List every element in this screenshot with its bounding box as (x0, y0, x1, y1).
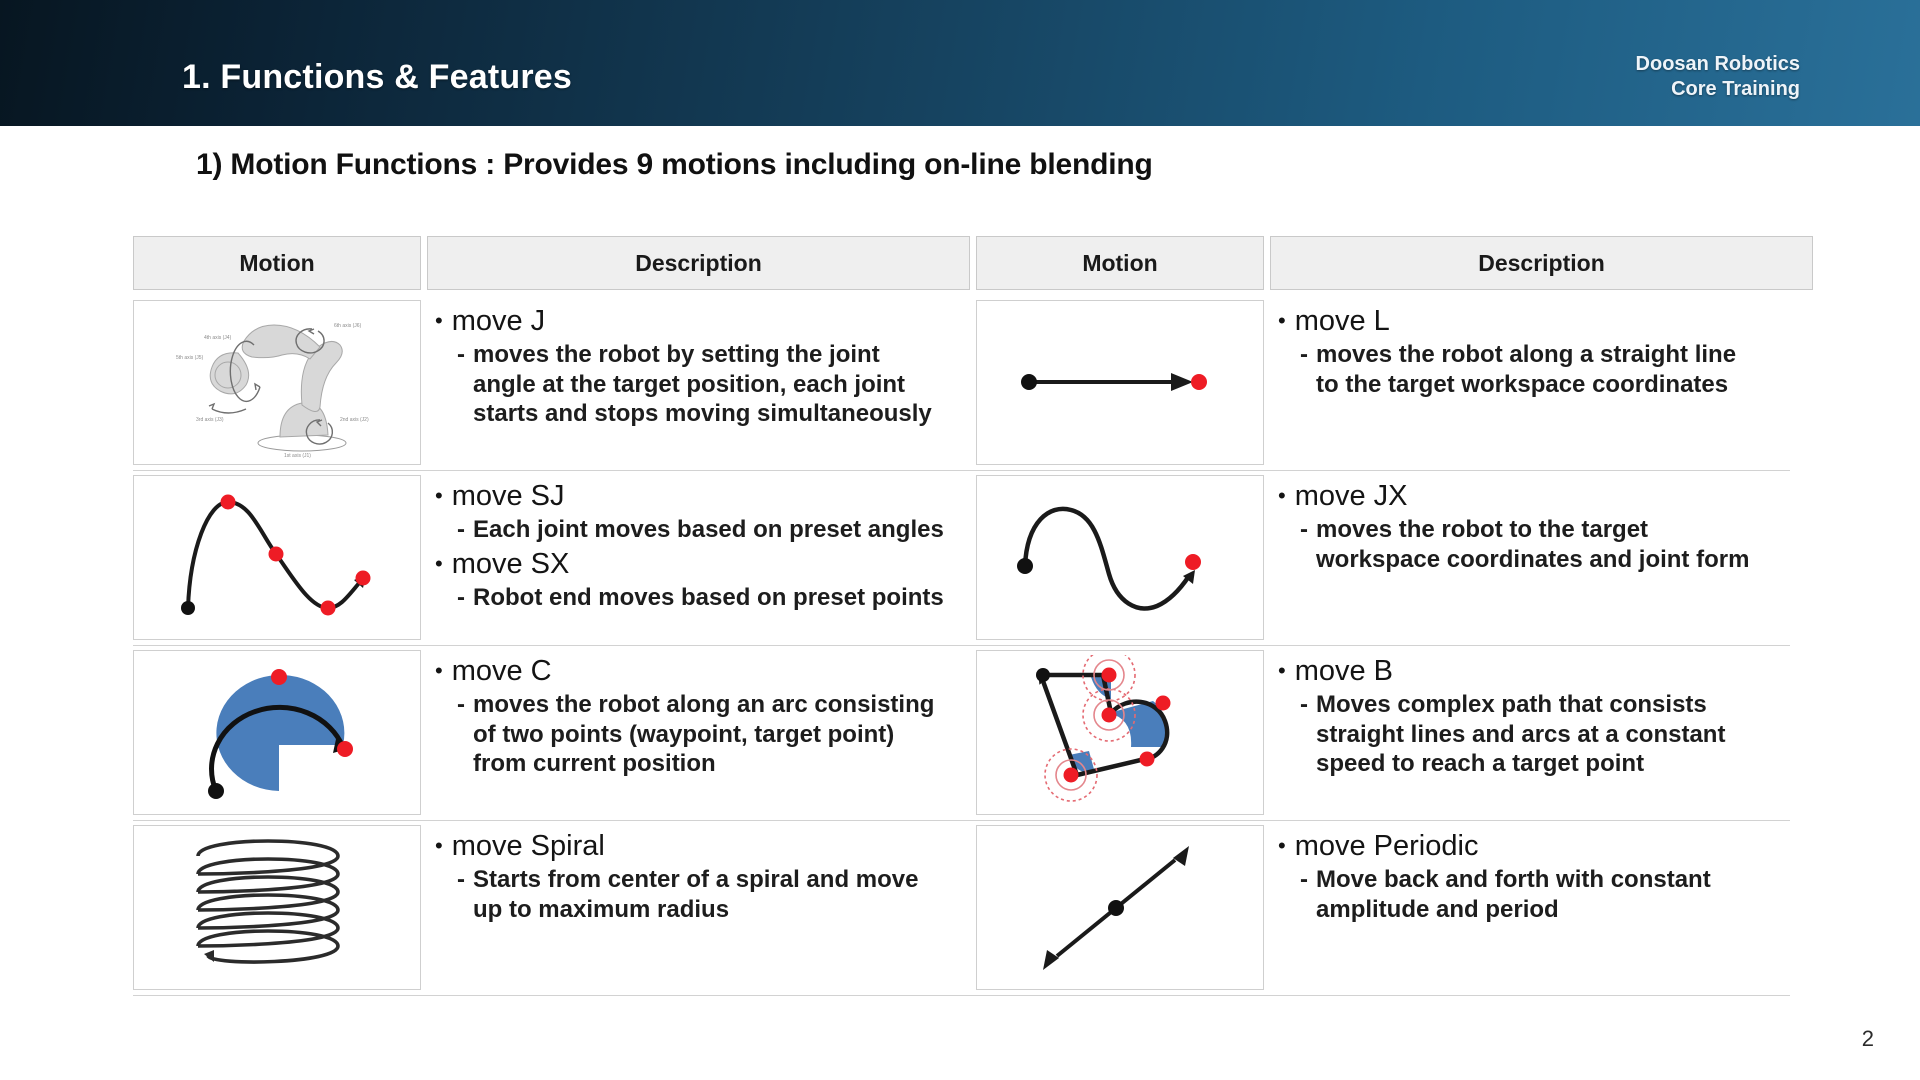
motion-title: move Spiral (452, 831, 605, 862)
motion-detail: moves the robot by setting the joint ang… (473, 340, 932, 428)
motion-detail: moves the robot along an arc consisting … (473, 690, 934, 778)
bullet-dot-icon: • (435, 549, 443, 579)
table-header-row: Motion Description Motion Description (133, 236, 1790, 290)
column-header-description-left: Description (427, 236, 970, 290)
description-cell: • move B - Moves complex path that consi… (1270, 650, 1813, 815)
svg-text:3rd axis (J3): 3rd axis (J3) (196, 417, 224, 423)
motion-item-title-row: • move Spiral (435, 831, 968, 862)
motion-diagram-cell (976, 475, 1264, 640)
motion-detail-row: - Each joint moves based on preset angle… (457, 515, 968, 544)
motion-table: Motion Description Motion Description (133, 236, 1790, 990)
dash-icon: - (457, 690, 465, 719)
bullet-dot-icon: • (435, 831, 443, 861)
motion-diagram-cell (133, 475, 421, 640)
row-divider (133, 470, 1790, 471)
motion-diagram-cell (976, 300, 1264, 465)
motion-detail: moves the robot to the target workspace … (1316, 515, 1749, 574)
motion-detail: moves the robot along a straight line to… (1316, 340, 1736, 399)
motion-title: move L (1295, 306, 1390, 337)
table-row: • move C - moves the robot along an arc … (133, 650, 1790, 815)
motion-diagram-cell (133, 650, 421, 815)
dash-icon: - (1300, 690, 1308, 719)
dash-icon: - (1300, 515, 1308, 544)
description-cell: • move JX - moves the robot to the targe… (1270, 475, 1813, 640)
motion-title: move SJ (452, 481, 565, 512)
svg-text:2nd axis (J2): 2nd axis (J2) (340, 417, 369, 423)
brand-line-2: Core Training (1636, 77, 1800, 102)
slide: 1. Functions & Features Doosan Robotics … (0, 0, 1920, 1080)
row-divider (133, 820, 1790, 821)
motion-diagram-cell (976, 825, 1264, 990)
table-row: • move Spiral - Starts from center of a … (133, 825, 1790, 990)
motion-detail: Robot end moves based on preset points (473, 583, 944, 612)
description-cell: • move J - moves the robot by setting th… (427, 300, 970, 465)
spiral-helix-icon (142, 830, 412, 985)
motion-detail-row: - moves the robot along a straight line … (1300, 340, 1811, 399)
svg-text:6th axis (J6): 6th axis (J6) (334, 323, 362, 329)
motion-title: move J (452, 306, 545, 337)
description-cell: • move L - moves the robot along a strai… (1270, 300, 1813, 465)
description-cell: • move C - moves the robot along an arc … (427, 650, 970, 815)
column-header-motion-right: Motion (976, 236, 1264, 290)
description-cell: • move Spiral - Starts from center of a … (427, 825, 970, 990)
motion-title: move C (452, 656, 552, 687)
description-cell: • move Periodic - Move back and forth wi… (1270, 825, 1813, 990)
bullet-dot-icon: • (1278, 306, 1286, 336)
description-cell: • move SJ - Each joint moves based on pr… (427, 475, 970, 640)
straight-line-arrow-icon (985, 305, 1255, 460)
motion-detail-row: - moves the robot to the target workspac… (1300, 515, 1811, 574)
motion-detail: Starts from center of a spiral and move … (473, 865, 918, 924)
motion-diagram-cell (133, 825, 421, 990)
row-divider (133, 995, 1790, 996)
motion-detail: Moves complex path that consists straigh… (1316, 690, 1725, 778)
svg-text:4th axis (J4): 4th axis (J4) (204, 335, 232, 341)
motion-detail-row: - Robot end moves based on preset points (457, 583, 968, 612)
dash-icon: - (1300, 865, 1308, 894)
bullet-dot-icon: • (1278, 831, 1286, 861)
motion-detail: Move back and forth with constant amplit… (1316, 865, 1711, 924)
motion-detail-row: - Move back and forth with constant ampl… (1300, 865, 1811, 924)
spline-waypoints-icon (142, 480, 412, 635)
bullet-dot-icon: • (435, 306, 443, 336)
brand-block: Doosan Robotics Core Training (1636, 52, 1800, 102)
bullet-dot-icon: • (1278, 656, 1286, 686)
motion-item-title-row: • move L (1278, 306, 1811, 337)
svg-text:1st axis (J1): 1st axis (J1) (284, 453, 311, 459)
bullet-dot-icon: • (435, 481, 443, 511)
motion-detail-row: - moves the robot along an arc consistin… (457, 690, 968, 778)
motion-diagram-cell: 6th axis (J6) 5th axis (J5) 4th axis (J4… (133, 300, 421, 465)
brand-line-1: Doosan Robotics (1636, 52, 1800, 77)
dash-icon: - (457, 583, 465, 612)
s-curve-arrow-icon (985, 480, 1255, 635)
slide-header-banner: 1. Functions & Features Doosan Robotics … (0, 0, 1920, 126)
motion-item-title-row: • move SX (435, 549, 968, 580)
motion-title: move SX (452, 549, 570, 580)
double-arrow-periodic-icon (985, 830, 1255, 985)
motion-item-title-row: • move B (1278, 656, 1811, 687)
column-header-motion-left: Motion (133, 236, 421, 290)
motion-item-title-row: • move C (435, 656, 968, 687)
motion-title: move Periodic (1295, 831, 1479, 862)
dash-icon: - (457, 865, 465, 894)
row-divider (133, 645, 1790, 646)
motion-detail-row: - moves the robot by setting the joint a… (457, 340, 968, 428)
motion-title: move JX (1295, 481, 1408, 512)
blended-path-icon (985, 655, 1255, 810)
motion-title: move B (1295, 656, 1393, 687)
table-row: • move SJ - Each joint moves based on pr… (133, 475, 1790, 640)
motion-detail-row: - Moves complex path that consists strai… (1300, 690, 1811, 778)
motion-detail-row: - Starts from center of a spiral and mov… (457, 865, 968, 924)
table-row: 6th axis (J6) 5th axis (J5) 4th axis (J4… (133, 300, 1790, 465)
dash-icon: - (457, 515, 465, 544)
svg-text:5th axis (J5): 5th axis (J5) (176, 355, 204, 361)
column-header-description-right: Description (1270, 236, 1813, 290)
dash-icon: - (457, 340, 465, 369)
page-title: 1. Functions & Features (182, 58, 572, 97)
bullet-dot-icon: • (1278, 481, 1286, 511)
motion-detail: Each joint moves based on preset angles (473, 515, 944, 544)
arc-sector-icon (142, 655, 412, 810)
page-number: 2 (1862, 1026, 1874, 1052)
motion-item-title-row: • move J (435, 306, 968, 337)
bullet-dot-icon: • (435, 656, 443, 686)
motion-item-title-row: • move JX (1278, 481, 1811, 512)
motion-item-title-row: • move Periodic (1278, 831, 1811, 862)
dash-icon: - (1300, 340, 1308, 369)
section-subtitle: 1) Motion Functions : Provides 9 motions… (196, 148, 1153, 182)
motion-item-title-row: • move SJ (435, 481, 968, 512)
motion-diagram-cell (976, 650, 1264, 815)
robot-arm-axes-icon: 6th axis (J6) 5th axis (J5) 4th axis (J4… (142, 305, 412, 460)
